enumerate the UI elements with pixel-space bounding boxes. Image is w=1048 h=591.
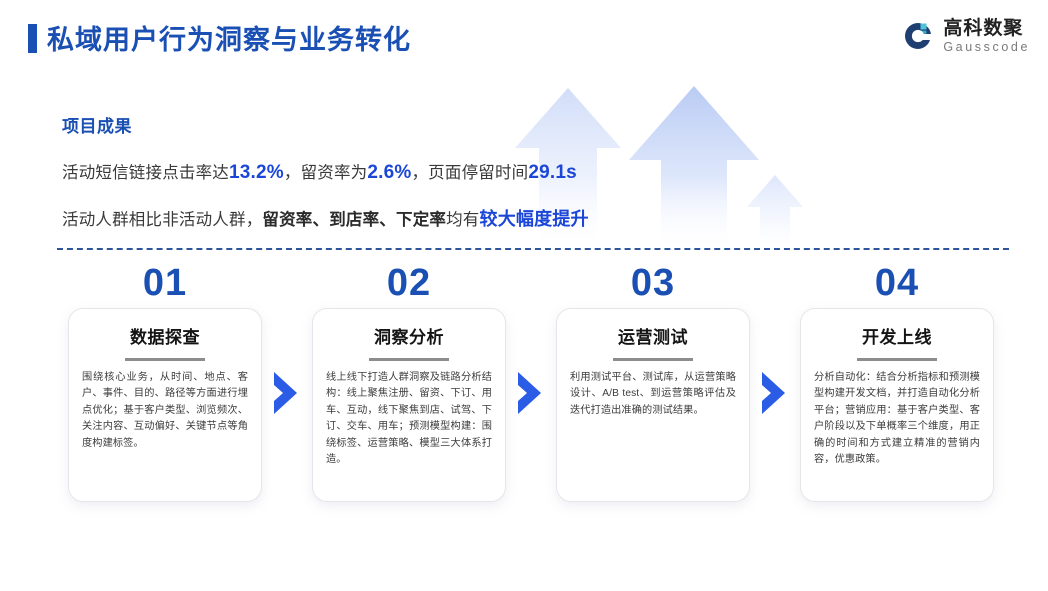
logo-name-cn: 高科数聚 [943, 19, 1030, 38]
step-title-04: 开发上线 [801, 323, 993, 348]
metric-lead-rate: 2.6% [367, 162, 411, 183]
gausscode-circle-g-icon [902, 20, 934, 52]
step-title-03: 运营测试 [557, 323, 749, 348]
step-rule-02 [369, 358, 449, 361]
metric-dwell-time: 29.1s [528, 162, 577, 183]
step-card-04[interactable]: 开发上线 分析自动化：结合分析指标和预测模型构建开发文档，并打造自动化分析平台；… [800, 308, 994, 502]
step-rule-01 [125, 358, 205, 361]
project-results: 项目成果 活动短信链接点击率达13.2%，留资率为2.6%，页面停留时间29.1… [62, 112, 762, 231]
brand-logo: 高科数聚 Gausscode [902, 19, 1030, 54]
metric-click-rate: 13.2% [229, 162, 284, 183]
step-number-02: 02 [312, 262, 506, 304]
step-body-04: 分析自动化：结合分析指标和预测模型构建开发文档，并打造自动化分析平台；营销应用：… [814, 370, 980, 469]
step-number-03: 03 [556, 262, 750, 304]
results-line-1: 活动短信链接点击率达13.2%，留资率为2.6%，页面停留时间29.1s [62, 159, 762, 184]
step-body-01: 围绕核心业务，从时间、地点、客户、事件、目的、路径等方面进行埋点优化；基于客户类… [82, 370, 248, 453]
results-line-2-text-1: 活动人群相比非活动人群， [62, 211, 262, 229]
results-line-1-text-3: ，页面停留时间 [411, 164, 528, 182]
results-line-1-text-1: 活动短信链接点击率达 [62, 164, 229, 182]
slide-header: 私域用户行为洞察与业务转化 高科数聚 Gausscode [0, 0, 1048, 78]
chevron-right-icon-3 [759, 370, 787, 416]
step-number-01: 01 [68, 262, 262, 304]
results-line-2-highlight: 较大幅度提升 [480, 209, 589, 229]
results-line-1-text-2: ，留资率为 [284, 164, 368, 182]
logo-name-en: Gausscode [943, 41, 1030, 54]
slide-canvas: 私域用户行为洞察与业务转化 高科数聚 Gausscode 项目成果 活动短信链接… [0, 0, 1048, 591]
results-heading: 项目成果 [62, 112, 762, 137]
step-body-02: 线上线下打造人群洞察及链路分析结构：线上聚焦注册、留资、下订、用车、互动，线下聚… [326, 370, 492, 469]
step-card-02[interactable]: 洞察分析 线上线下打造人群洞察及链路分析结构：线上聚焦注册、留资、下订、用车、互… [312, 308, 506, 502]
section-divider [57, 248, 1009, 250]
step-title-02: 洞察分析 [313, 323, 505, 348]
results-line-2: 活动人群相比非活动人群，留资率、到店率、下定率均有较大幅度提升 [62, 205, 762, 231]
chevron-right-icon-1 [271, 370, 299, 416]
step-title-01: 数据探查 [69, 323, 261, 348]
process-steps: 01 数据探查 围绕核心业务，从时间、地点、客户、事件、目的、路径等方面进行埋点… [0, 262, 1048, 522]
step-body-03: 利用测试平台、测试库，从运营策略设计、A/B test、到运营策略评估及迭代打造… [570, 370, 736, 420]
logo-text: 高科数聚 Gausscode [943, 19, 1030, 54]
step-rule-03 [613, 358, 693, 361]
results-line-2-text-2: 均有 [446, 211, 479, 229]
step-number-04: 04 [800, 262, 994, 304]
step-card-03[interactable]: 运营测试 利用测试平台、测试库，从运营策略设计、A/B test、到运营策略评估… [556, 308, 750, 502]
page-title: 私域用户行为洞察与业务转化 [47, 18, 411, 57]
step-card-01[interactable]: 数据探查 围绕核心业务，从时间、地点、客户、事件、目的、路径等方面进行埋点优化；… [68, 308, 262, 502]
results-line-2-metrics: 留资率、到店率、下定率 [262, 211, 446, 229]
title-accent-bar [28, 24, 37, 53]
chevron-right-icon-2 [515, 370, 543, 416]
step-rule-04 [857, 358, 937, 361]
